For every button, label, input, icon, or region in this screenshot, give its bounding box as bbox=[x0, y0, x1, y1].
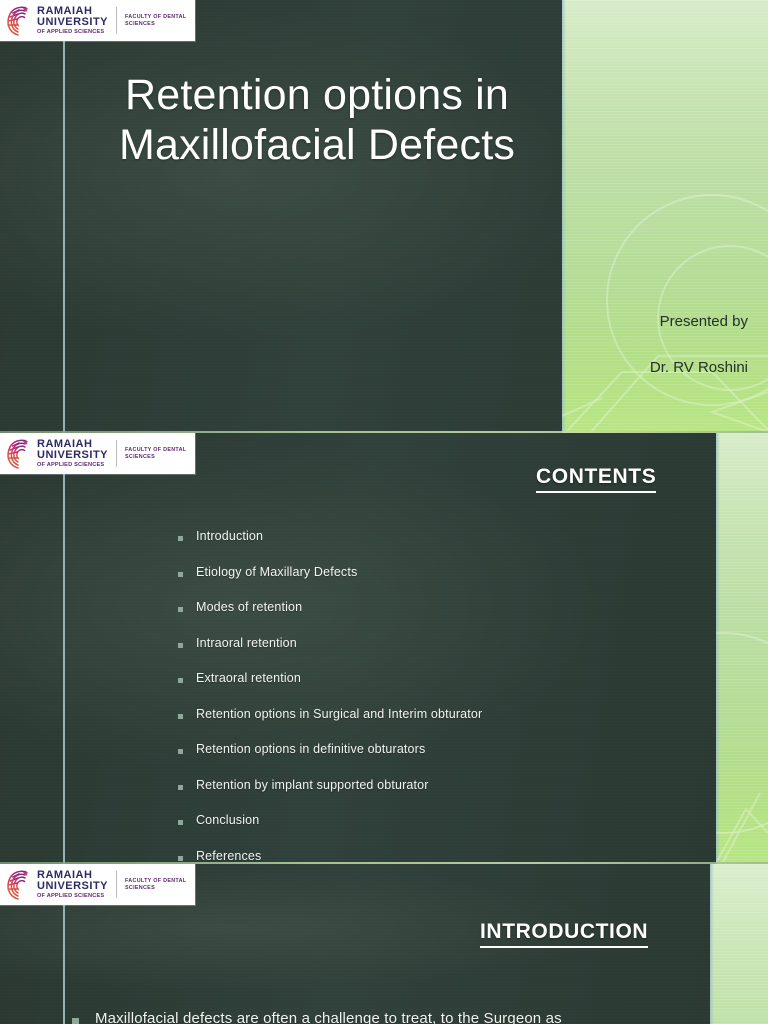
list-item: Retention by implant supported obturator bbox=[178, 778, 698, 792]
list-item-label: Retention by implant supported obturator bbox=[196, 778, 429, 792]
list-item: Conclusion bbox=[178, 813, 698, 827]
slide-deck-page: RAMAIAH UNIVERSITY OF APPLIED SCIENCES F… bbox=[0, 0, 768, 1024]
contents-list: Introduction Etiology of Maxillary Defec… bbox=[178, 529, 698, 863]
accent-panel bbox=[716, 433, 768, 864]
list-item: Intraoral retention bbox=[178, 636, 698, 650]
bullet-square-icon bbox=[178, 572, 183, 577]
institution-logo: RAMAIAH UNIVERSITY OF APPLIED SCIENCES F… bbox=[0, 433, 195, 474]
list-item: Introduction bbox=[178, 529, 698, 543]
list-item-label: Retention options in definitive obturato… bbox=[196, 742, 425, 756]
list-item-label: Extraoral retention bbox=[196, 671, 301, 685]
list-item: Retention options in Surgical and Interi… bbox=[178, 707, 698, 721]
ramaiah-flame-logo-icon bbox=[5, 5, 33, 37]
list-item-label: Maxillofacial defects are often a challe… bbox=[95, 1010, 562, 1024]
logo-divider bbox=[116, 440, 117, 467]
bullet-square-icon bbox=[178, 785, 183, 790]
bullet-square-icon bbox=[72, 1018, 79, 1024]
list-item-label: Introduction bbox=[196, 529, 263, 543]
introduction-accent-rule bbox=[63, 905, 65, 1024]
slide-contents: RAMAIAH UNIVERSITY OF APPLIED SCIENCES F… bbox=[0, 433, 768, 864]
logo-wordmark: RAMAIAH UNIVERSITY OF APPLIED SCIENCES bbox=[37, 439, 108, 468]
logo-faculty-line-1: FACULTY OF DENTAL bbox=[125, 447, 186, 454]
accent-panel bbox=[710, 864, 768, 1024]
logo-wordmark: RAMAIAH UNIVERSITY OF APPLIED SCIENCES bbox=[37, 870, 108, 899]
accent-panel-sheen bbox=[710, 864, 768, 1024]
bullet-square-icon bbox=[178, 820, 183, 825]
logo-line-3: OF APPLIED SCIENCES bbox=[37, 893, 108, 899]
list-item: Modes of retention bbox=[178, 600, 698, 614]
list-item-label: Intraoral retention bbox=[196, 636, 297, 650]
logo-faculty-block: FACULTY OF DENTAL SCIENCES bbox=[125, 878, 186, 892]
logo-divider bbox=[116, 7, 117, 34]
logo-faculty-block: FACULTY OF DENTAL SCIENCES bbox=[125, 14, 186, 28]
presentation-title: Retention options in Maxillofacial Defec… bbox=[72, 70, 562, 171]
introduction-list: Maxillofacial defects are often a challe… bbox=[72, 1010, 712, 1024]
list-item: Etiology of Maxillary Defects bbox=[178, 565, 698, 579]
slide-title: RAMAIAH UNIVERSITY OF APPLIED SCIENCES F… bbox=[0, 0, 768, 433]
title-accent-rule bbox=[63, 36, 65, 433]
bullet-square-icon bbox=[178, 714, 183, 719]
bullet-square-icon bbox=[178, 856, 183, 861]
list-item-label: Retention options in Surgical and Interi… bbox=[196, 707, 482, 721]
ramaiah-flame-logo-icon bbox=[5, 438, 33, 470]
list-item: Maxillofacial defects are often a challe… bbox=[72, 1010, 712, 1024]
contents-heading: CONTENTS bbox=[536, 465, 656, 493]
logo-faculty-line-2: SCIENCES bbox=[125, 454, 186, 461]
logo-faculty-block: FACULTY OF DENTAL SCIENCES bbox=[125, 447, 186, 461]
logo-wordmark: RAMAIAH UNIVERSITY OF APPLIED SCIENCES bbox=[37, 6, 108, 35]
logo-line-3: OF APPLIED SCIENCES bbox=[37, 29, 108, 35]
presenter-name: Dr. RV Roshini bbox=[562, 359, 748, 376]
list-item: Retention options in definitive obturato… bbox=[178, 742, 698, 756]
bullet-square-icon bbox=[178, 678, 183, 683]
institution-logo: RAMAIAH UNIVERSITY OF APPLIED SCIENCES F… bbox=[0, 0, 195, 41]
ramaiah-flame-logo-icon bbox=[5, 869, 33, 901]
introduction-heading: INTRODUCTION bbox=[480, 920, 648, 948]
presentation-title-line-2: Maxillofacial Defects bbox=[72, 120, 562, 170]
presented-by-label: Presented by bbox=[562, 313, 748, 330]
list-item: Extraoral retention bbox=[178, 671, 698, 685]
list-item: References bbox=[178, 849, 698, 863]
institution-logo: RAMAIAH UNIVERSITY OF APPLIED SCIENCES F… bbox=[0, 864, 195, 905]
list-item-label: Modes of retention bbox=[196, 600, 302, 614]
logo-line-2: UNIVERSITY bbox=[37, 17, 108, 28]
accent-panel-decoration bbox=[716, 433, 768, 864]
logo-faculty-line-1: FACULTY OF DENTAL bbox=[125, 14, 186, 21]
logo-faculty-line-2: SCIENCES bbox=[125, 885, 186, 892]
contents-accent-rule bbox=[63, 474, 65, 864]
logo-line-2: UNIVERSITY bbox=[37, 450, 108, 461]
bullet-square-icon bbox=[178, 749, 183, 754]
list-item-label: Conclusion bbox=[196, 813, 259, 827]
logo-faculty-line-2: SCIENCES bbox=[125, 21, 186, 28]
logo-line-2: UNIVERSITY bbox=[37, 881, 108, 892]
logo-line-3: OF APPLIED SCIENCES bbox=[37, 462, 108, 468]
list-item-label: References bbox=[196, 849, 261, 863]
bullet-square-icon bbox=[178, 607, 183, 612]
logo-faculty-line-1: FACULTY OF DENTAL bbox=[125, 878, 186, 885]
list-item-label: Etiology of Maxillary Defects bbox=[196, 565, 357, 579]
presentation-title-line-1: Retention options in bbox=[72, 70, 562, 120]
bullet-square-icon bbox=[178, 536, 183, 541]
slide-introduction: RAMAIAH UNIVERSITY OF APPLIED SCIENCES F… bbox=[0, 864, 768, 1024]
logo-divider bbox=[116, 871, 117, 898]
bullet-square-icon bbox=[178, 643, 183, 648]
